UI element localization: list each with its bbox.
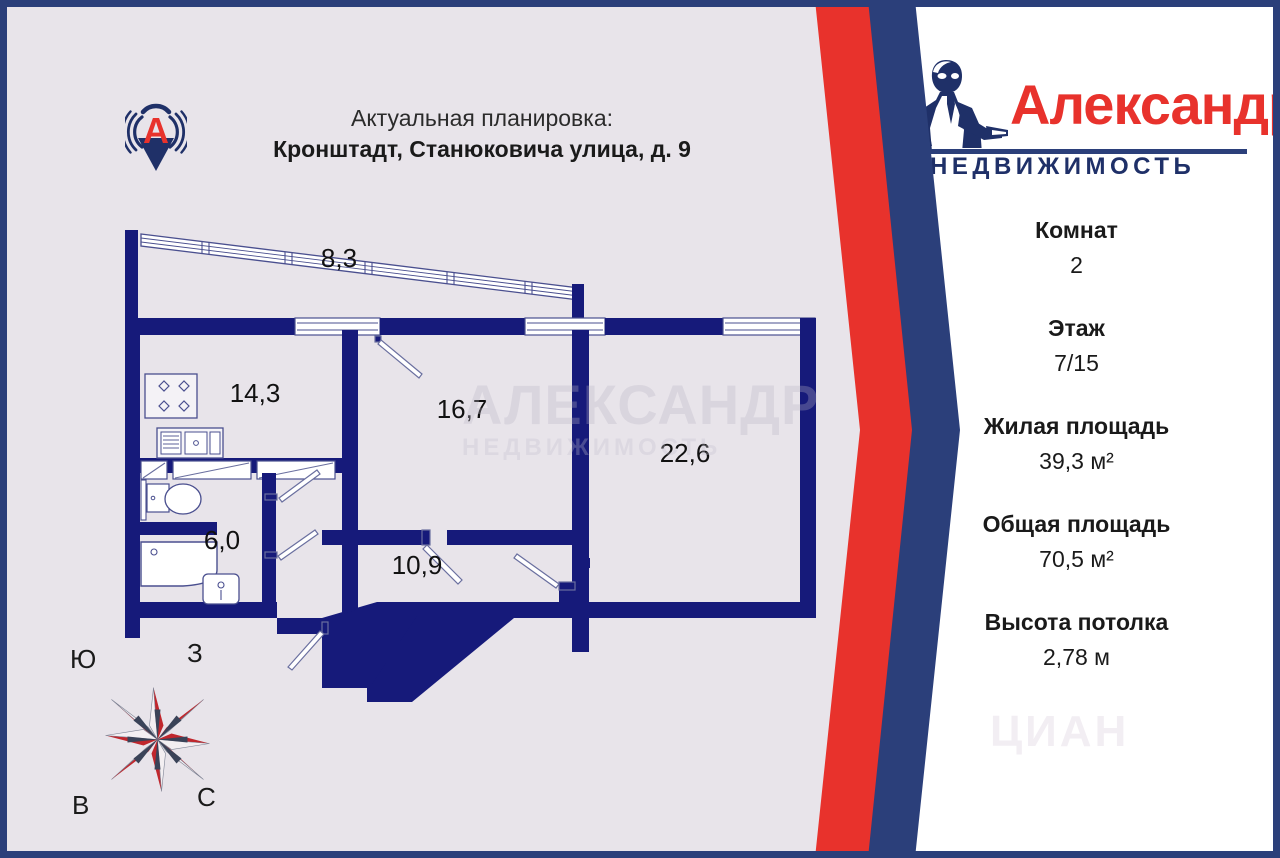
map-pin-a-icon: A (125, 99, 187, 175)
svg-text:A: A (143, 110, 169, 151)
towel-rail-icon (141, 480, 146, 520)
wall-bottom-right (514, 602, 816, 618)
spec-floor-value: 7/15 (880, 346, 1273, 380)
door-living-top (375, 336, 422, 378)
wall-bathroom-bottom (125, 602, 277, 618)
jamb-bedroom (572, 558, 590, 568)
spec-living-area-value: 39,3 м² (880, 444, 1273, 478)
brand-tagline: НЕДВИЖИМОСТЬ (930, 152, 1195, 182)
cian-watermark: ЦИАН (990, 707, 1129, 757)
spec-rooms-label: Комнат (880, 212, 1273, 248)
window-living (525, 318, 605, 335)
toilet-icon (147, 484, 201, 514)
compass-label-z: З (187, 638, 203, 669)
window-kitchen (295, 318, 380, 335)
wall-left-exterior (125, 318, 140, 638)
spacer (880, 282, 1273, 310)
washbasin-icon (203, 574, 239, 604)
spec-ceiling-height: Высота потолка 2,78 м (880, 604, 1273, 674)
spec-total-area: Общая площадь 70,5 м² (880, 506, 1273, 576)
wall-living-bottom-a (322, 530, 422, 545)
balcony-glazing (141, 234, 579, 300)
sink-icon (157, 428, 223, 458)
brand-logo: Александр НЕДВИЖИМОСТЬ (902, 52, 1252, 197)
spec-total-area-label: Общая площадь (880, 506, 1273, 542)
door-bedroom-corridor (514, 554, 575, 590)
compass: Ю З В С (52, 632, 267, 837)
area-label-bedroom: 22,6 (660, 438, 711, 468)
plan-header-line1: Актуальная планировка: (197, 103, 767, 133)
wall-kitchen-living (342, 330, 358, 620)
details-panel: ЦИАН (880, 7, 1273, 851)
wall-top-3 (605, 318, 723, 335)
spec-floor: Этаж 7/15 (880, 310, 1273, 380)
wall-living-bottom-b (447, 530, 573, 545)
spec-ceiling-height-value: 2,78 м (880, 640, 1273, 674)
spacer (880, 380, 1273, 408)
stove-icon (145, 374, 197, 418)
compass-label-v: В (72, 790, 89, 821)
wall-top-2 (380, 318, 525, 335)
spec-living-area: Жилая площадь 39,3 м² (880, 408, 1273, 478)
area-labels: 8,3 14,3 16,7 22,6 6,0 10,9 (204, 243, 710, 580)
area-label-bathroom: 6,0 (204, 525, 240, 555)
area-label-kitchen: 14,3 (230, 378, 281, 408)
fixtures-layer (141, 374, 239, 604)
plan-header-line2: Кронштадт, Станюковича улица, д. 9 (197, 133, 767, 165)
wall-top-1 (125, 318, 295, 335)
floorplan-listing-image: A Актуальная планировка: Кронштадт, Стан… (0, 0, 1280, 858)
property-specs: Комнат 2 Этаж 7/15 Жилая площадь 39,3 м²… (880, 212, 1273, 674)
spec-living-area-label: Жилая площадь (880, 408, 1273, 444)
compass-rose-icon (100, 682, 215, 797)
spec-floor-label: Этаж (880, 310, 1273, 346)
area-label-balcony: 8,3 (321, 243, 357, 273)
floorplan-panel: A Актуальная планировка: Кронштадт, Стан… (7, 7, 887, 851)
compass-label-yu: Ю (70, 644, 96, 675)
plan-header: A Актуальная планировка: Кронштадт, Стан… (117, 97, 777, 187)
brand-name: Александр (1010, 74, 1273, 136)
spacer (880, 576, 1273, 604)
plan-header-text: Актуальная планировка: Кронштадт, Станюк… (197, 103, 767, 165)
area-label-living-room: 16,7 (437, 394, 488, 424)
area-label-corridor: 10,9 (392, 550, 443, 580)
wall-balcony-left (125, 230, 138, 330)
spec-total-area-value: 70,5 м² (880, 542, 1273, 576)
spacer (880, 478, 1273, 506)
wall-right-exterior (800, 318, 816, 618)
spec-ceiling-height-label: Высота потолка (880, 604, 1273, 640)
spec-rooms-value: 2 (880, 248, 1273, 282)
spec-rooms: Комнат 2 (880, 212, 1273, 282)
